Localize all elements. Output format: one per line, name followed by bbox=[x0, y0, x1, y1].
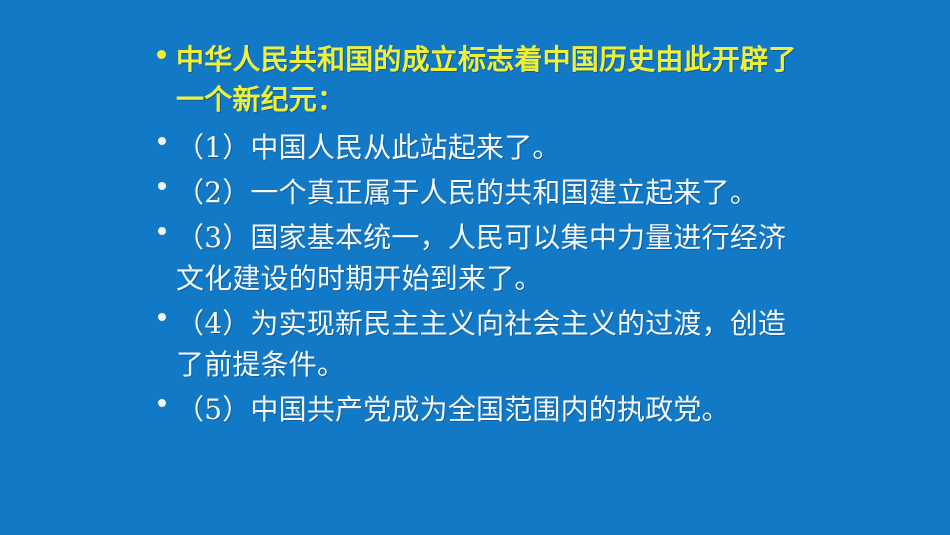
heading-text: 中华人民共和国的成立标志着中国历史由此开辟了一个新纪元： bbox=[176, 40, 810, 120]
bullet-dot-icon bbox=[150, 303, 176, 321]
bullet-item-3: （3）国家基本统一，人民可以集中力量进行经济文化建设的时期开始到来了。 bbox=[150, 217, 810, 299]
bullet-dot-icon bbox=[150, 40, 176, 59]
bullet-item-heading: 中华人民共和国的成立标志着中国历史由此开辟了一个新纪元： bbox=[150, 40, 810, 120]
bullet-dot-icon bbox=[150, 172, 176, 190]
bullet-item-5: （5）中国共产党成为全国范围内的执政党。 bbox=[150, 389, 810, 430]
bullet-text-5: （5）中国共产党成为全国范围内的执政党。 bbox=[176, 389, 810, 430]
bullet-dot-icon bbox=[150, 389, 176, 407]
bullet-text-2: （2）一个真正属于人民的共和国建立起来了。 bbox=[176, 172, 810, 213]
bullet-text-3: （3）国家基本统一，人民可以集中力量进行经济文化建设的时期开始到来了。 bbox=[176, 217, 810, 299]
bullet-dot-icon bbox=[150, 127, 176, 145]
bullet-text-1: （1）中国人民从此站起来了。 bbox=[176, 127, 810, 168]
bullet-item-2: （2）一个真正属于人民的共和国建立起来了。 bbox=[150, 172, 810, 213]
bullet-text-4: （4）为实现新民主主义向社会主义的过渡，创造了前提条件。 bbox=[176, 303, 810, 385]
bullet-item-4: （4）为实现新民主主义向社会主义的过渡，创造了前提条件。 bbox=[150, 303, 810, 385]
bullet-item-1: （1）中国人民从此站起来了。 bbox=[150, 127, 810, 168]
slide-content-block: 中华人民共和国的成立标志着中国历史由此开辟了一个新纪元： （1）中国人民从此站起… bbox=[150, 40, 810, 434]
presentation-slide: 中华人民共和国的成立标志着中国历史由此开辟了一个新纪元： （1）中国人民从此站起… bbox=[0, 0, 950, 535]
bullet-dot-icon bbox=[150, 217, 176, 235]
